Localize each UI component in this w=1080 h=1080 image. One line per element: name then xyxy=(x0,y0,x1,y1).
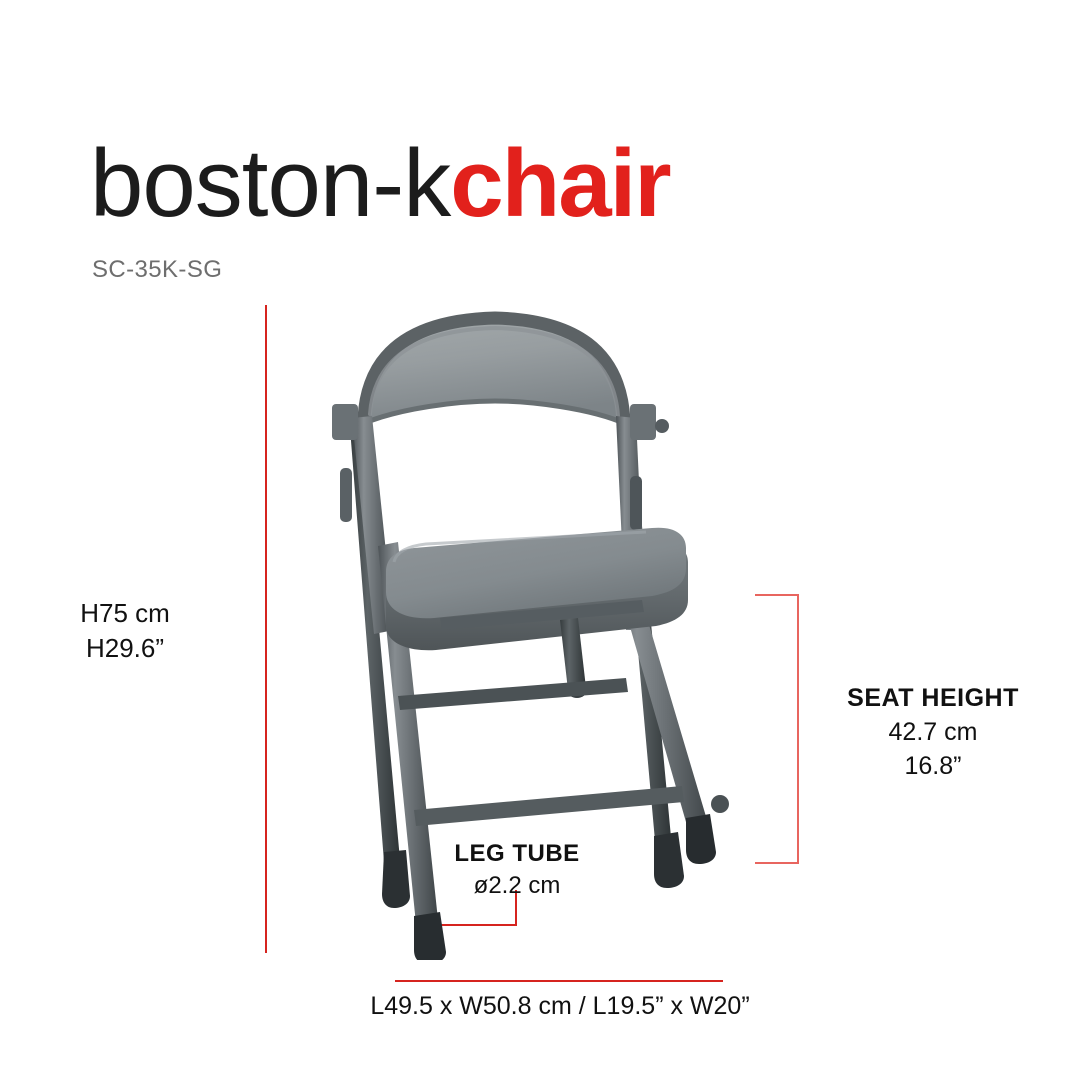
seat-height-label: SEAT HEIGHT xyxy=(818,682,1048,716)
hinge-bracket-left xyxy=(332,404,358,440)
overall-height-imperial: H29.6” xyxy=(0,631,250,666)
leg-tube-callout: LEG TUBE ø2.2 cm xyxy=(432,838,602,903)
overall-height-guide-line xyxy=(265,305,267,953)
seat-height-imperial: 16.8” xyxy=(818,750,1048,784)
footprint-guide-line xyxy=(395,980,723,982)
seat-height-guide-line xyxy=(797,594,799,864)
footprint-callout: L49.5 x W50.8 cm / L19.5” x W20” xyxy=(250,992,870,1021)
page-title: boston-kchair xyxy=(90,136,670,232)
foot-rear-right xyxy=(654,832,684,888)
product-spec-sheet: boston-kchair SC-35K-SG xyxy=(0,0,1080,1080)
seat-height-metric: 42.7 cm xyxy=(818,716,1048,750)
foot-rear-left xyxy=(382,850,410,908)
chair-backrest xyxy=(362,318,626,424)
seat-height-guide-tick-top xyxy=(755,594,799,596)
foot-front-right xyxy=(686,814,716,864)
product-sku: SC-35K-SG xyxy=(92,256,222,284)
seat-height-callout: SEAT HEIGHT 42.7 cm 16.8” xyxy=(818,682,1048,783)
overall-height-callout: H75 cm H29.6” xyxy=(0,596,250,666)
leg-tube-label: LEG TUBE xyxy=(432,838,602,870)
hinge-bracket-right xyxy=(630,404,656,440)
overall-height-metric: H75 cm xyxy=(0,596,250,631)
foot-front-left xyxy=(414,912,446,960)
chair-cross-braces xyxy=(398,678,684,826)
product-name-primary: boston-k xyxy=(90,130,450,237)
seat-height-guide-tick-bottom xyxy=(755,862,799,864)
product-name-accent: chair xyxy=(450,130,669,237)
footprint-dimensions: L49.5 x W50.8 cm / L19.5” x W20” xyxy=(250,992,870,1021)
leg-tube-diameter: ø2.2 cm xyxy=(432,870,602,902)
